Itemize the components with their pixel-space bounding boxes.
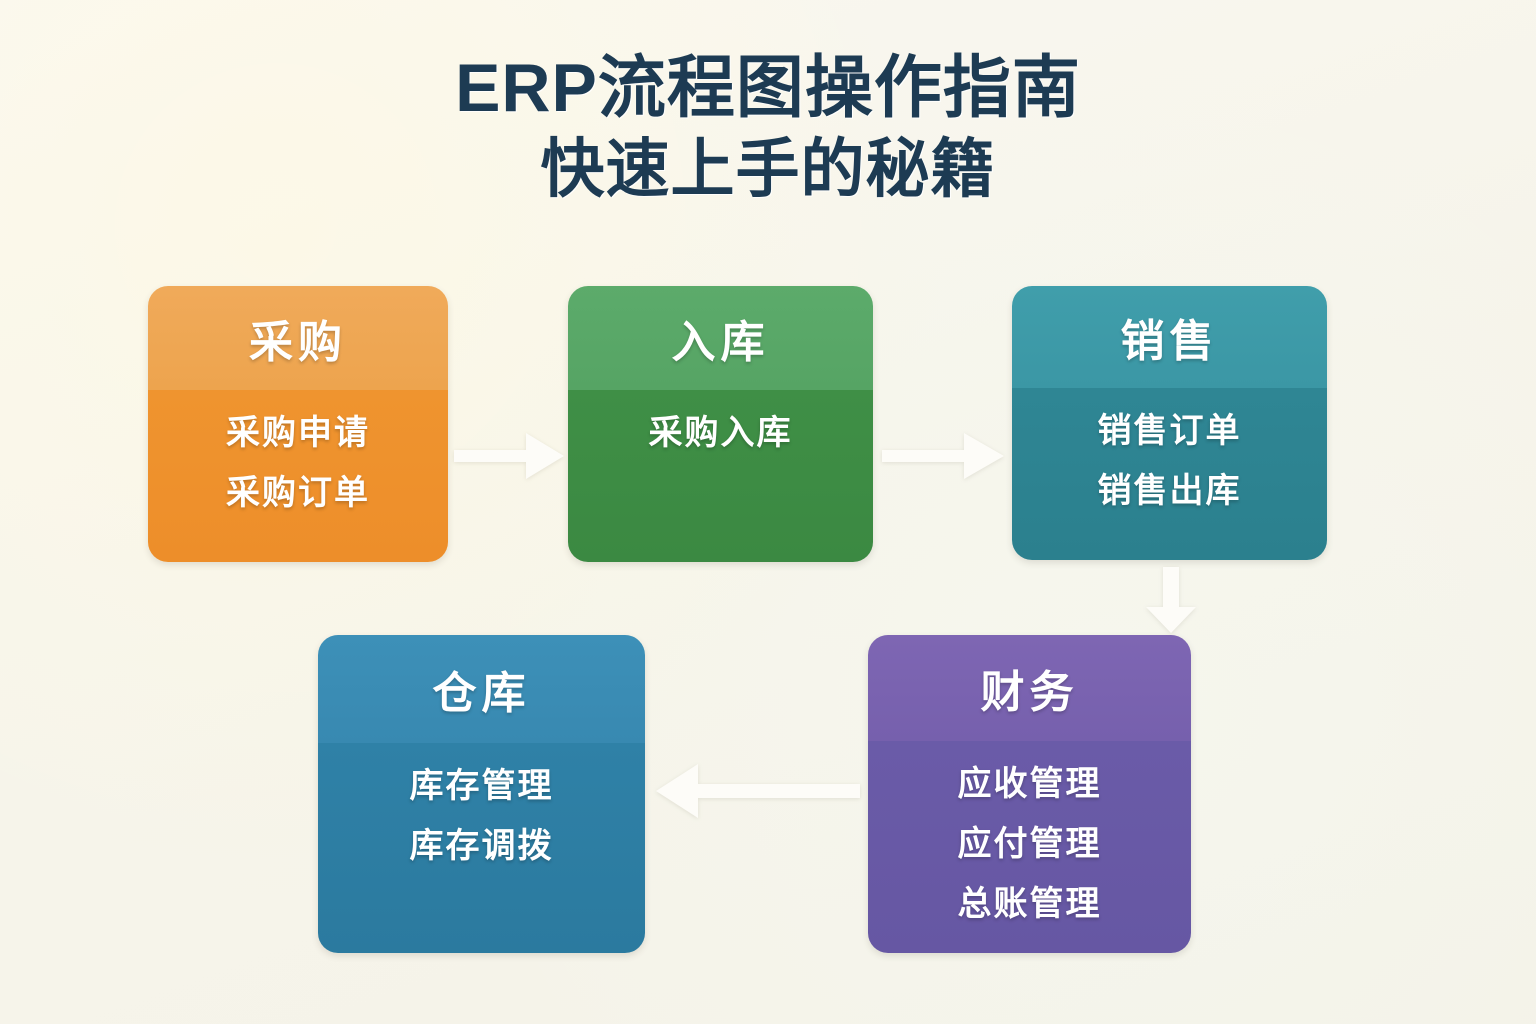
node-inbound-item-1[interactable]: 采购入库 — [649, 416, 793, 450]
node-purchase-header: 采购 — [148, 286, 448, 390]
arrow-right-icon — [452, 425, 568, 487]
node-finance-item-1[interactable]: 应收管理 — [958, 767, 1102, 801]
node-sales-item-2[interactable]: 销售出库 — [1098, 474, 1242, 508]
node-inbound[interactable]: 入库 采购入库 — [568, 286, 873, 562]
node-warehouse-item-1[interactable]: 库存管理 — [410, 769, 554, 803]
title-line-primary: ERP流程图操作指南 — [0, 48, 1536, 128]
node-finance-item-2[interactable]: 应付管理 — [958, 827, 1102, 861]
flowchart-canvas: ERP流程图操作指南 快速上手的秘籍 采购 采购申请 采购订单 入库 采购入库 … — [0, 0, 1536, 1024]
node-inbound-body: 采购入库 — [568, 390, 873, 562]
node-warehouse-item-2[interactable]: 库存调拨 — [410, 829, 554, 863]
node-purchase-item-2[interactable]: 采购订单 — [226, 476, 370, 510]
node-finance-item-3[interactable]: 总账管理 — [958, 887, 1102, 921]
node-warehouse-header: 仓库 — [318, 635, 645, 743]
page-title: ERP流程图操作指南 快速上手的秘籍 — [0, 48, 1536, 208]
node-finance[interactable]: 财务 应收管理 应付管理 总账管理 — [868, 635, 1191, 953]
node-purchase-item-1[interactable]: 采购申请 — [226, 416, 370, 450]
arrow-left-icon — [652, 758, 862, 824]
node-sales-header: 销售 — [1012, 286, 1327, 388]
node-inbound-header: 入库 — [568, 286, 873, 390]
node-finance-body: 应收管理 应付管理 总账管理 — [868, 741, 1191, 953]
node-purchase[interactable]: 采购 采购申请 采购订单 — [148, 286, 448, 562]
node-purchase-body: 采购申请 采购订单 — [148, 390, 448, 562]
title-line-secondary: 快速上手的秘籍 — [0, 132, 1536, 208]
node-finance-header: 财务 — [868, 635, 1191, 741]
node-sales-item-1[interactable]: 销售订单 — [1098, 414, 1242, 448]
arrow-right-icon — [880, 425, 1008, 487]
node-warehouse-body: 库存管理 库存调拨 — [318, 743, 645, 953]
node-sales[interactable]: 销售 销售订单 销售出库 — [1012, 286, 1327, 560]
arrow-down-icon — [1140, 565, 1202, 635]
node-warehouse[interactable]: 仓库 库存管理 库存调拨 — [318, 635, 645, 953]
node-sales-body: 销售订单 销售出库 — [1012, 388, 1327, 560]
